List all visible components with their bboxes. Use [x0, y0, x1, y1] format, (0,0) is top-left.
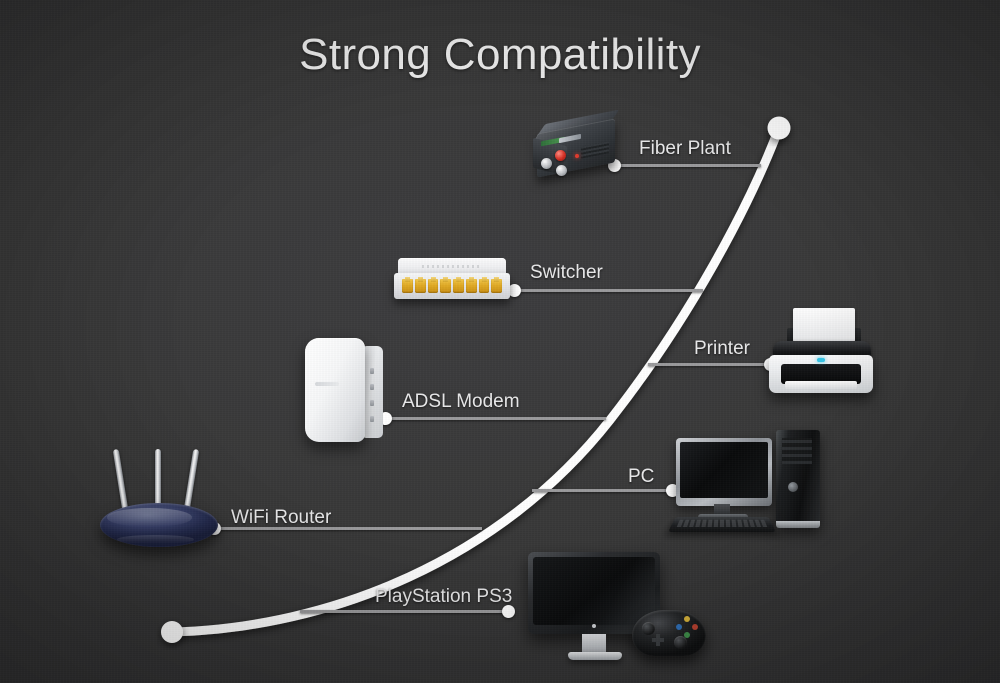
switcher-port: [402, 279, 413, 293]
label-pc: PC: [628, 466, 654, 488]
connector-playstation-ps3: [300, 610, 508, 613]
switcher-port: [440, 279, 451, 293]
device-fiber-plant[interactable]: [515, 110, 627, 188]
connector-pc: [532, 489, 672, 492]
pc-tower: [776, 430, 820, 528]
pc-keyboard: [668, 517, 776, 532]
printer-paper-tray: [793, 308, 855, 342]
ps3-display-indicator: [592, 624, 596, 628]
device-adsl-modem[interactable]: [305, 338, 383, 442]
pc-screen: [680, 442, 768, 498]
label-fiber-plant: Fiber Plant: [639, 138, 731, 160]
ps3-screen: [533, 557, 655, 625]
gamepad-button-b: [692, 624, 698, 630]
switcher-port: [453, 279, 464, 293]
ps3-display-neck: [582, 634, 606, 654]
label-switcher: Switcher: [530, 262, 603, 284]
fiber-plant-rca-white-2: [556, 165, 567, 176]
connector-dot-playstation-ps3[interactable]: [502, 605, 515, 618]
fiber-plant-led: [575, 154, 579, 158]
connector-printer: [648, 363, 770, 366]
gamepad-button-a: [684, 632, 690, 638]
adsl-modem-front-face: [305, 338, 365, 442]
printer-output-tray: [785, 381, 857, 389]
gamepad-button-y: [684, 616, 690, 622]
connector-adsl-modem: [391, 417, 606, 420]
connector-fiber-plant: [620, 164, 761, 167]
switcher-port: [466, 279, 477, 293]
device-switcher[interactable]: [392, 258, 512, 306]
pc-monitor: [676, 438, 772, 506]
label-adsl-modem: ADSL Modem: [402, 391, 520, 413]
switcher-port: [479, 279, 490, 293]
device-wifi-router[interactable]: [100, 445, 218, 547]
gamepad-button-x: [676, 624, 682, 630]
pc-power-button-icon: [788, 482, 798, 492]
switcher-port: [491, 279, 502, 293]
device-playstation-ps3[interactable]: [528, 552, 708, 670]
curve-endpoint-top: [768, 117, 791, 140]
switcher-port: [415, 279, 426, 293]
adsl-modem-led: [370, 416, 374, 422]
adsl-modem-led: [370, 368, 374, 374]
fiber-plant-rca-red: [555, 150, 566, 161]
curve-endpoint-bottom: [161, 621, 183, 643]
switcher-port: [428, 279, 439, 293]
label-wifi-router: WiFi Router: [231, 507, 331, 529]
device-pc[interactable]: [672, 430, 824, 540]
device-printer[interactable]: [765, 308, 877, 400]
infographic-canvas: Strong Compatibility Fiber Plant Switche…: [0, 0, 1000, 683]
connector-wifi-router: [220, 527, 482, 530]
switcher-port-row: [402, 278, 502, 293]
printer-status-led: [817, 358, 825, 362]
adsl-modem-led: [370, 400, 374, 406]
fiber-plant-rca-white-1: [541, 158, 552, 169]
ps3-display-base: [568, 652, 622, 660]
connector-switcher: [520, 289, 703, 292]
label-printer: Printer: [694, 338, 750, 360]
wifi-router-body: [100, 503, 218, 547]
label-playstation-ps3: PlayStation PS3: [375, 586, 512, 608]
adsl-modem-led: [370, 384, 374, 390]
gamepad-dpad-icon: [652, 634, 664, 646]
gamepad-stick-right: [674, 636, 687, 649]
